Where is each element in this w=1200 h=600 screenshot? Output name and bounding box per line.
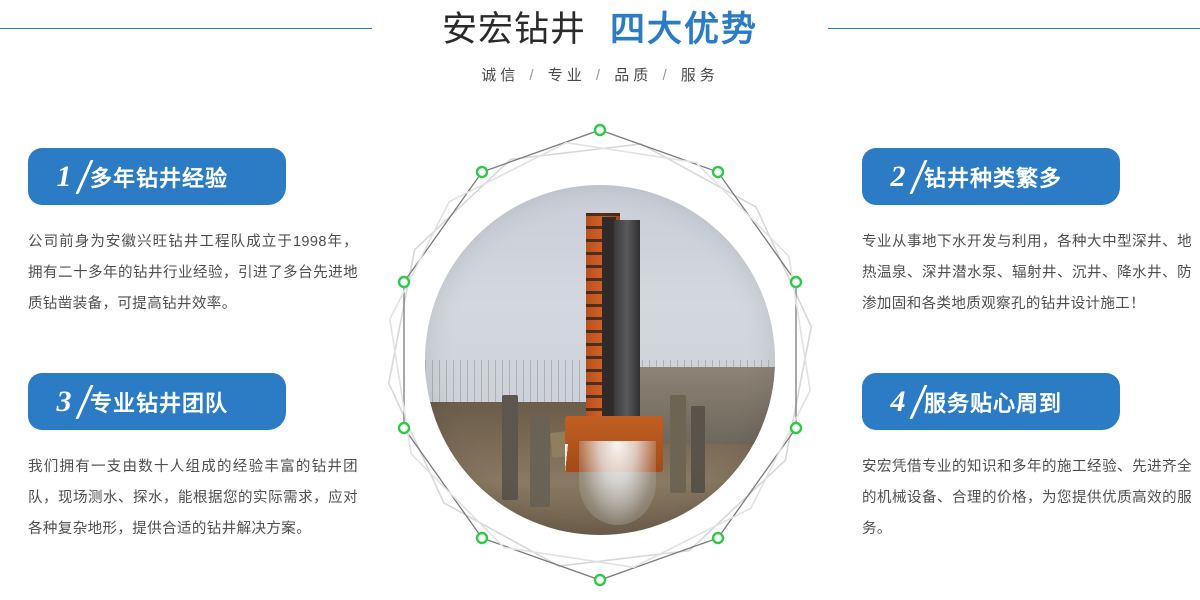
title-main-text: 安宏钻井 (442, 8, 586, 52)
advantage-card-4: 4 服务贴心周到 安宏凭借专业的知识和多年的施工经验、先进齐全的机械设备、合理的… (862, 373, 1200, 560)
subtitle-separator-1: / (594, 67, 606, 84)
decagon-vertex-2 (791, 277, 801, 287)
photo-vignette (425, 185, 775, 535)
advantage-banner-3: 3 专业钻井团队 (28, 373, 286, 430)
header-subtitle: 诚信 / 专业 / 品质 / 服务 (0, 64, 1200, 85)
advantage-body-1: 公司前身为安徽兴旺钻井工程队成立于1998年，拥有二十多年的钻井行业经验，引进了… (28, 227, 358, 320)
advantage-banner-4: 4 服务贴心周到 (862, 373, 1120, 430)
decagon-vertex-0 (595, 125, 605, 135)
advantages-page: 安宏钻井 四大优势 诚信 / 专业 / 品质 / 服务 1 多年钻井经验 公司前… (0, 0, 1200, 600)
advantage-card-1: 1 多年钻井经验 公司前身为安徽兴旺钻井工程队成立于1998年，拥有二十多年的钻… (28, 148, 368, 335)
advantage-card-3: 3 专业钻井团队 我们拥有一支由数十人组成的经验丰富的钻井团队，现场测水、探水，… (28, 373, 368, 560)
decagon-vertex-1 (713, 167, 723, 177)
advantage-title-1: 多年钻井经验 (90, 161, 228, 193)
advantage-title-3: 专业钻井团队 (90, 386, 228, 418)
subtitle-item-1: 专业 (548, 67, 586, 84)
decagon-vertex-3 (791, 423, 801, 433)
advantage-title-4: 服务贴心周到 (924, 386, 1062, 418)
advantage-number-1: 1 (28, 148, 90, 205)
decagon-vertex-5 (595, 575, 605, 585)
title-accent-text: 四大优势 (610, 8, 758, 52)
advantage-body-2: 专业从事地下水开发与利用，各种大中型深井、地热温泉、深井潜水泵、辐射井、沉井、降… (862, 227, 1192, 320)
page-title: 安宏钻井 四大优势 (0, 8, 1200, 52)
subtitle-separator-2: / (660, 67, 672, 84)
decagon-vertex-9 (477, 167, 487, 177)
subtitle-separator-0: / (527, 67, 539, 84)
advantage-number-3: 3 (28, 373, 90, 430)
advantage-banner-2: 2 钻井种类繁多 (862, 148, 1120, 205)
drilling-rig-photo (425, 185, 775, 535)
advantage-body-4: 安宏凭借专业的知识和多年的施工经验、先进齐全的机械设备、合理的价格，为您提供优质… (862, 452, 1192, 545)
decagon-vertex-7 (399, 423, 409, 433)
decagon-vertex-8 (399, 277, 409, 287)
center-graphic (378, 110, 822, 600)
advantage-number-4: 4 (862, 373, 924, 430)
advantage-number-2: 2 (862, 148, 924, 205)
advantage-card-2: 2 钻井种类繁多 专业从事地下水开发与利用，各种大中型深井、地热温泉、深井潜水泵… (862, 148, 1200, 335)
page-header: 安宏钻井 四大优势 诚信 / 专业 / 品质 / 服务 (0, 0, 1200, 110)
subtitle-item-2: 品质 (614, 67, 652, 84)
advantage-banner-1: 1 多年钻井经验 (28, 148, 286, 205)
advantage-body-3: 我们拥有一支由数十人组成的经验丰富的钻井团队，现场测水、探水，能根据您的实际需求… (28, 452, 358, 545)
subtitle-item-3: 服务 (681, 67, 719, 84)
advantage-title-2: 钻井种类繁多 (924, 161, 1062, 193)
subtitle-item-0: 诚信 (481, 67, 519, 84)
